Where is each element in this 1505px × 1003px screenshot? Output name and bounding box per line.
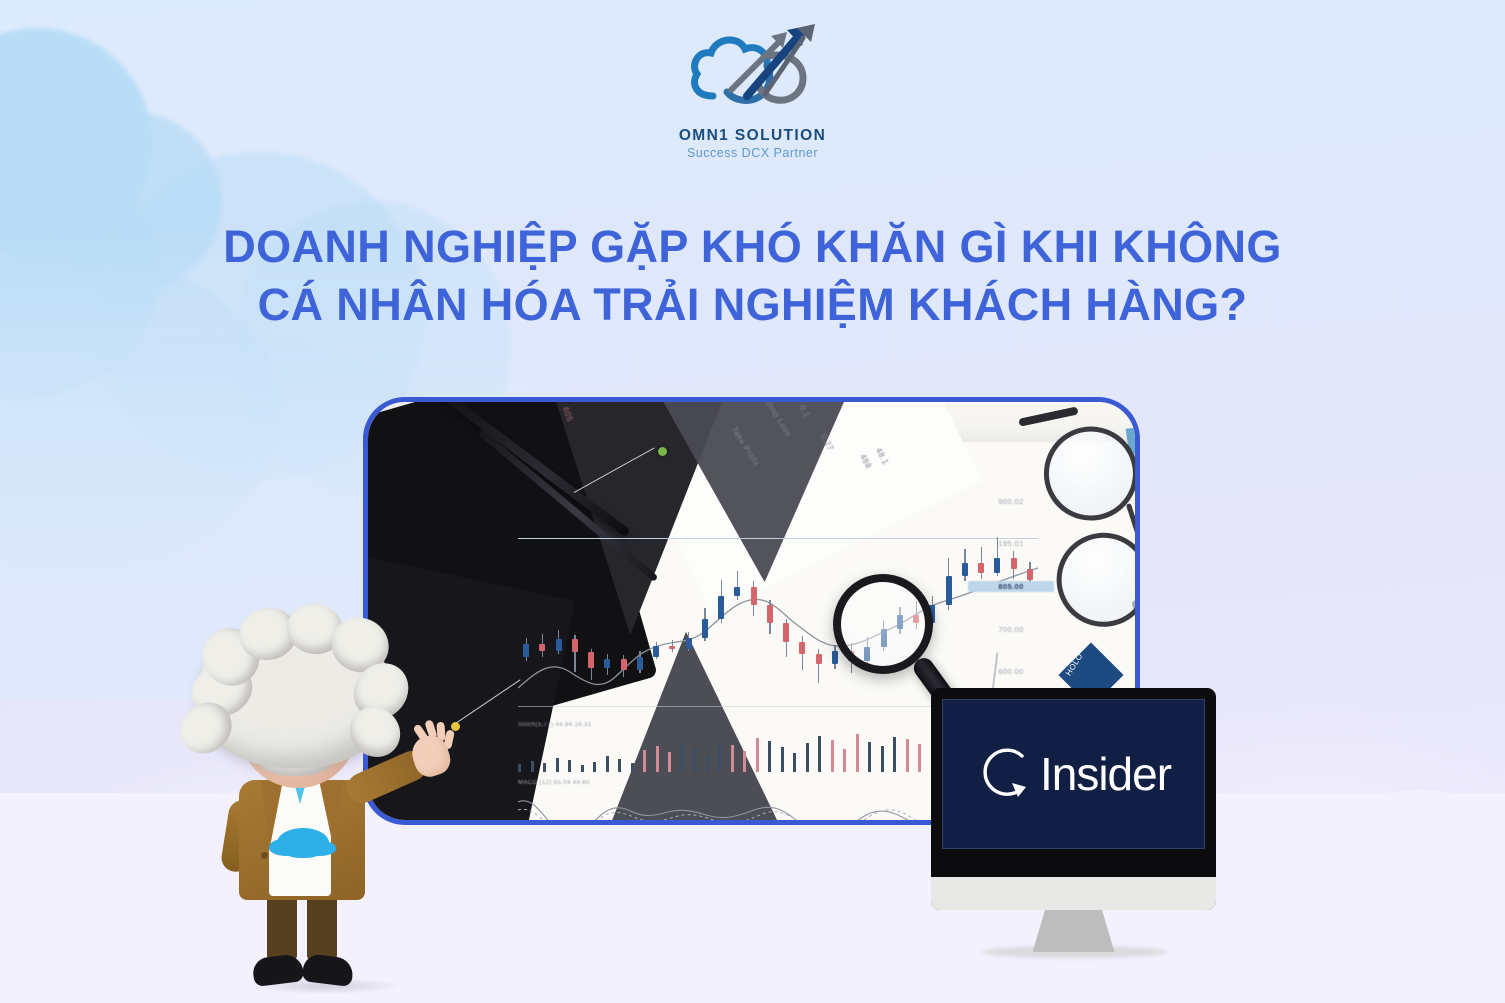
candle-body xyxy=(669,646,675,649)
volume-bar xyxy=(518,764,521,772)
volume-bar xyxy=(631,763,634,772)
indicator-pane: Stoch(5,77) 44.84 24.31 MACD (12) 65.04 … xyxy=(518,722,958,825)
moving-average-line xyxy=(518,520,1038,710)
volume-bars xyxy=(518,730,958,772)
volume-bar xyxy=(781,747,784,772)
circular-arrow-icon xyxy=(976,743,1038,805)
price-axis-label: 600.00 xyxy=(968,667,1054,676)
volume-bar xyxy=(681,744,684,772)
volume-bar xyxy=(543,763,546,772)
cloud-white-shape xyxy=(0,895,170,1003)
candle-body xyxy=(588,652,594,668)
brand-logo: OMN1 SOLUTION Success DCX Partner xyxy=(0,22,1505,160)
page-title: DOANH NGHIỆP GẶP KHÓ KHĂN GÌ KHI KHÔNG C… xyxy=(0,218,1505,333)
glasses-lens xyxy=(1047,523,1140,637)
volume-bar xyxy=(893,737,896,772)
volume-bar xyxy=(556,758,559,772)
volume-bar xyxy=(793,753,796,772)
cloud-white-shape xyxy=(1390,840,1505,1003)
mascot-shoe xyxy=(301,953,354,987)
volume-bar xyxy=(868,742,871,772)
mascot-body xyxy=(239,780,365,900)
candle-body xyxy=(702,619,708,638)
einstein-mascot xyxy=(195,612,457,1002)
insider-wordmark: Insider xyxy=(1040,751,1171,797)
monitor-stand xyxy=(1033,908,1115,952)
volume-bar xyxy=(568,760,571,772)
candle-body xyxy=(946,576,952,605)
cloud-arrow-growth-icon xyxy=(683,22,823,124)
volume-bar xyxy=(756,738,759,772)
volume-bar xyxy=(718,742,721,772)
glasses-lens xyxy=(1034,417,1140,531)
volume-bar xyxy=(618,759,621,772)
cloud-white-shape xyxy=(1190,855,1400,1003)
candle-body xyxy=(653,646,659,657)
volume-bar xyxy=(606,756,609,772)
candle-body xyxy=(637,657,643,670)
candle-body xyxy=(832,651,838,665)
volume-bar xyxy=(693,748,696,772)
volume-caption: Stoch(5,77) 44.84 24.31 xyxy=(518,722,958,728)
candle-body xyxy=(556,639,562,651)
candle-body xyxy=(962,563,968,576)
candle-body xyxy=(572,639,578,653)
candle-body xyxy=(718,596,724,619)
brand-tagline: Success DCX Partner xyxy=(687,146,818,160)
desktop-monitor: Insider xyxy=(931,688,1216,910)
candlestick-chart xyxy=(518,520,1038,710)
volume-bar xyxy=(768,741,771,772)
volume-bar xyxy=(831,740,834,772)
monitor-screen: Insider xyxy=(942,699,1205,849)
volume-bar xyxy=(668,752,671,772)
volume-bar xyxy=(843,749,846,772)
blue-cloud-icon xyxy=(277,828,329,858)
candle-body xyxy=(767,605,773,623)
candle-body xyxy=(783,623,789,642)
mascot-leg xyxy=(307,894,337,962)
volume-bar xyxy=(656,746,659,772)
monitor-bezel: Insider xyxy=(931,688,1216,910)
volume-bar xyxy=(643,750,646,772)
volume-bar xyxy=(706,754,709,772)
magnifying-glass-icon xyxy=(833,574,933,674)
volume-bar xyxy=(818,736,821,772)
monitor-chin xyxy=(931,877,1216,910)
candle-body xyxy=(686,638,692,649)
oscillator-lines xyxy=(518,786,958,825)
volume-bar xyxy=(743,751,746,772)
candle-body xyxy=(734,587,740,596)
candle-body xyxy=(751,587,757,605)
volume-bar xyxy=(731,745,734,772)
candle-body xyxy=(621,659,627,670)
mascot-leg xyxy=(267,894,297,962)
volume-bar xyxy=(581,765,584,772)
candle-body xyxy=(799,642,805,653)
jacket-button xyxy=(261,852,268,859)
green-pin-icon xyxy=(658,447,667,456)
oscillator-caption: MACD (12) 65.04 44.80 xyxy=(518,780,958,786)
candle-body xyxy=(604,659,610,668)
insider-logo: Insider xyxy=(943,700,1204,848)
candle-body xyxy=(539,644,545,651)
brand-name: OMN1 SOLUTION xyxy=(679,127,826,145)
volume-bar xyxy=(918,744,921,772)
cloud-white-shape xyxy=(1255,790,1505,1003)
glasses-bridge xyxy=(1126,503,1140,539)
volume-bar xyxy=(906,739,909,772)
volume-bar xyxy=(856,734,859,772)
volume-bar xyxy=(531,761,534,772)
candle-body xyxy=(816,654,822,665)
volume-bar xyxy=(881,746,884,772)
volume-bar xyxy=(593,762,596,772)
volume-bar xyxy=(806,743,809,772)
candle-body xyxy=(523,644,529,657)
